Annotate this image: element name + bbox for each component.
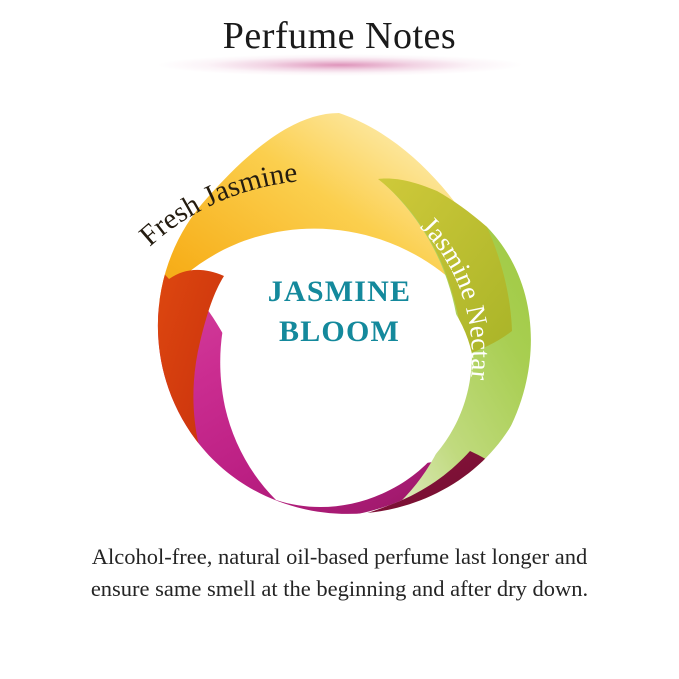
diagram-svg: Fresh Jasmine Jasmine Nectar White Flowe… xyxy=(0,92,679,522)
caption-line-2: ensure same smell at the beginning and a… xyxy=(14,573,665,605)
infographic-page: Perfume Notes xyxy=(0,0,679,679)
page-title-text: Perfume Notes xyxy=(0,16,679,58)
footer-caption: Alcohol-free, natural oil-based perfume … xyxy=(0,541,679,605)
caption-line-1: Alcohol-free, natural oil-based perfume … xyxy=(14,541,665,573)
page-title: Perfume Notes xyxy=(0,16,679,58)
perfume-notes-diagram: Fresh Jasmine Jasmine Nectar White Flowe… xyxy=(0,92,679,522)
